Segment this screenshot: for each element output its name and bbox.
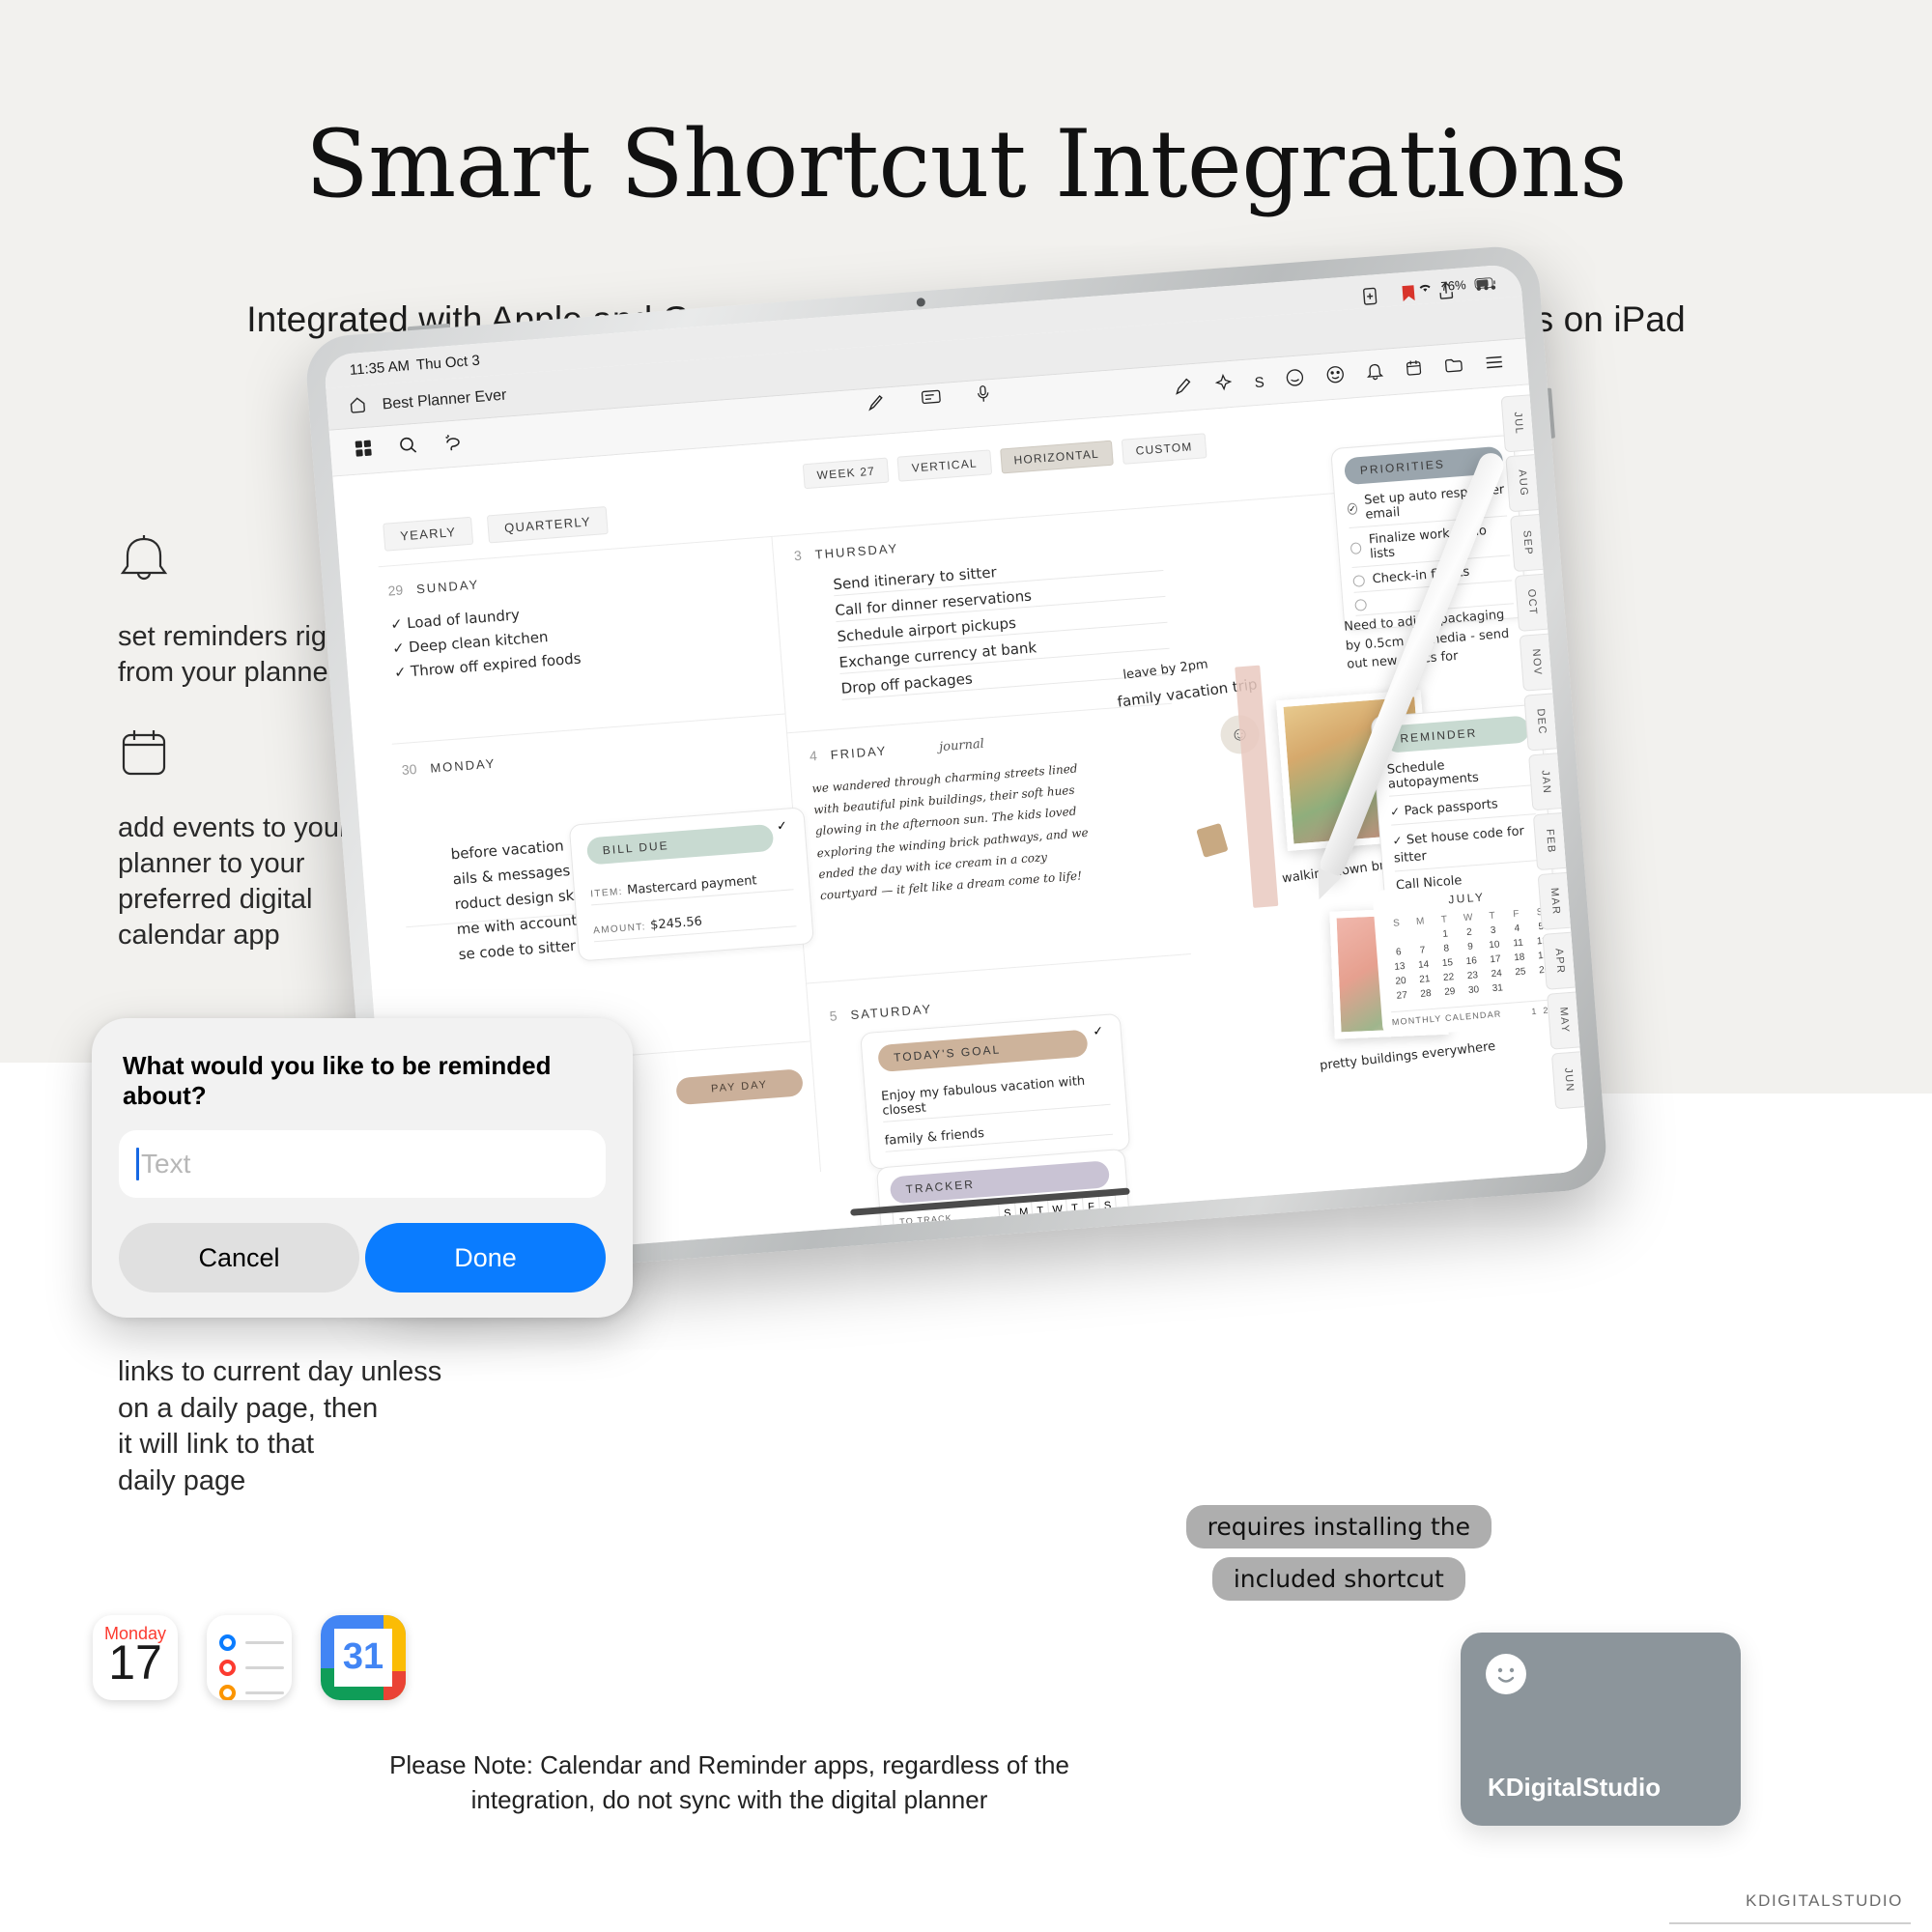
day-name: FRIDAY — [830, 743, 888, 761]
todays-goal-card: TODAY'S GOAL ✓ Enjoy my fabulous vacatio… — [860, 1013, 1130, 1170]
reminder-header: REMINDER — [1383, 715, 1530, 753]
tab-horizontal[interactable]: HORIZONTAL — [1000, 440, 1114, 474]
text-caret — [136, 1148, 139, 1180]
journal-header: journal — [939, 737, 985, 755]
reminder-text: Schedule autopayments — [1386, 752, 1533, 796]
search-icon[interactable] — [397, 435, 418, 460]
calendar-icon[interactable] — [1404, 358, 1424, 383]
bill-due-checkbox[interactable]: ✓ — [771, 814, 794, 838]
pencil-icon[interactable] — [1173, 376, 1194, 401]
month-tab-aug[interactable]: AUG — [1505, 454, 1540, 512]
month-tab-dec[interactable]: DEC — [1523, 693, 1558, 751]
month-tab-nov[interactable]: NOV — [1520, 633, 1554, 691]
folder-icon[interactable] — [1443, 355, 1464, 379]
checkbox-checked[interactable]: ✓ — [393, 664, 407, 681]
priority-text: Finalize work to-do lists — [1368, 522, 1509, 561]
apple-calendar-icon[interactable]: Monday 17 — [93, 1615, 178, 1700]
todo-text: Load of laundry — [407, 606, 521, 632]
bill-item-label: ITEM: — [590, 887, 623, 900]
page-number[interactable]: 1 — [1531, 1007, 1537, 1016]
week-tabs: WEEK 27 VERTICAL HORIZONTAL CUSTOM — [803, 433, 1207, 489]
dialog-title: What would you like to be reminded about… — [123, 1051, 606, 1111]
calendar-day: 17 — [93, 1638, 178, 1687]
todo-text: Deep clean kitchen — [408, 628, 549, 656]
calendar-icon — [118, 726, 349, 785]
calendar-day[interactable] — [1509, 979, 1534, 995]
day-block-thursday: 3 THURSDAY Send itinerary to sitter Call… — [793, 520, 1172, 709]
reminder-line — [245, 1691, 284, 1694]
footer-brand: KDIGITALSTUDIO — [1746, 1891, 1903, 1911]
checkbox-checked[interactable]: ✓ — [390, 616, 404, 634]
day-name: SUNDAY — [416, 577, 480, 596]
goal-header: TODAY'S GOAL — [877, 1029, 1089, 1072]
goal-line-1: Enjoy my fabulous vacation with closest — [881, 1072, 1111, 1122]
calendar-day[interactable]: 28 — [1413, 985, 1438, 1002]
sparkle-icon[interactable] — [1213, 372, 1235, 397]
new-page-icon[interactable] — [1360, 285, 1381, 310]
day-block-sunday: 29 SUNDAY ✓ Load of laundry ✓ Deep clean… — [387, 554, 761, 688]
page-tabs: YEARLY QUARTERLY — [383, 506, 609, 552]
reminder-dot-blue — [219, 1634, 236, 1651]
badge-line-2: included shortcut — [1212, 1557, 1465, 1601]
feature-text: set reminders right from your planner — [118, 619, 350, 691]
reminder-text-input[interactable]: Text — [119, 1130, 606, 1198]
footer-divider — [1669, 1922, 1911, 1924]
month-tab-may[interactable]: MAY — [1547, 991, 1581, 1049]
google-calendar-icon[interactable]: 31 — [321, 1615, 406, 1700]
grid-icon[interactable] — [353, 438, 374, 463]
feature-add-events: add events to your planner to your prefe… — [118, 726, 349, 953]
day-name: MONDAY — [430, 756, 497, 776]
share-icon[interactable] — [1436, 279, 1456, 304]
tracker-day-col: T — [1032, 1201, 1050, 1222]
shapes-icon[interactable]: S — [1254, 374, 1264, 391]
month-tab-oct[interactable]: OCT — [1515, 574, 1549, 632]
pen-icon[interactable] — [866, 392, 887, 417]
reminder-checkbox-checked[interactable]: ✓ — [1390, 805, 1401, 819]
bill-due-header: BILL DUE — [586, 824, 775, 866]
priority-checkbox[interactable] — [1350, 542, 1362, 554]
day-number: 30 — [401, 761, 417, 778]
washi-tape — [1235, 666, 1278, 908]
bookmark-icon[interactable] — [1400, 283, 1417, 308]
status-date: Thu Oct 3 — [415, 352, 480, 373]
goal-line-2: family & friends — [884, 1117, 1113, 1152]
bill-amount-label: AMOUNT: — [593, 922, 646, 936]
done-button[interactable]: Done — [365, 1223, 606, 1293]
studio-card[interactable]: KDigitalStudio — [1461, 1633, 1741, 1826]
tracker-day-col: S — [1098, 1195, 1117, 1216]
studio-name: KDigitalStudio — [1488, 1773, 1661, 1803]
cancel-button[interactable]: Cancel — [119, 1223, 359, 1293]
month-tab-jan[interactable]: JAN — [1528, 753, 1563, 810]
day-block-saturday: 5 SATURDAY — [829, 979, 1215, 1024]
checkbox-checked[interactable]: ✓ — [392, 639, 406, 657]
month-tab-mar[interactable]: MAR — [1538, 872, 1573, 930]
priority-checkbox[interactable] — [1352, 575, 1365, 587]
more-options-icon[interactable]: ••• — [1476, 280, 1499, 299]
links-note: links to current day unless on a daily p… — [118, 1354, 441, 1500]
mic-icon[interactable] — [976, 384, 991, 409]
mini-calendar-footer: MONTHLY CALENDAR — [1392, 1009, 1502, 1027]
calendar-day[interactable]: 31 — [1485, 980, 1510, 997]
bill-amount-value: $245.56 — [650, 915, 703, 933]
badge-line-1: requires installing the — [1186, 1505, 1492, 1548]
day-number: 4 — [809, 748, 817, 764]
lasso-icon[interactable] — [441, 431, 465, 457]
smiley-icon[interactable] — [1325, 363, 1347, 388]
reminder-checkbox-checked[interactable]: ✓ — [1392, 834, 1403, 848]
journal-entry: we wandered through charming streets lin… — [811, 749, 1207, 906]
calendar-day[interactable]: 30 — [1462, 982, 1487, 999]
home-icon[interactable] — [348, 394, 368, 418]
tab-yearly[interactable]: YEARLY — [383, 517, 473, 552]
feature-text: add events to your planner to your prefe… — [118, 810, 349, 953]
day-number: 29 — [387, 582, 404, 598]
feature-set-reminders: set reminders right from your planner — [118, 533, 350, 691]
reminder-line — [245, 1641, 284, 1644]
tab-quarterly[interactable]: QUARTERLY — [487, 506, 609, 543]
tracker-day-col: M — [1015, 1202, 1034, 1223]
day-number: 3 — [793, 548, 802, 564]
input-placeholder: Text — [141, 1149, 190, 1179]
day-block-friday: 4 FRIDAY journal we wandered through cha… — [809, 719, 1206, 906]
gcal-day: 31 — [334, 1629, 392, 1687]
requires-shortcut-badges: requires installing the included shortcu… — [1186, 1505, 1492, 1609]
tracker-day-col: F — [1082, 1197, 1100, 1218]
menu-icon[interactable] — [1484, 354, 1505, 375]
day-name: SATURDAY — [850, 1002, 933, 1022]
reminder-dot-orange — [219, 1685, 236, 1700]
bill-due-card: BILL DUE ✓ ITEM: Mastercard payment AMOU… — [569, 807, 814, 961]
tracker-day-col: S — [999, 1203, 1017, 1224]
bill-item-value: Mastercard payment — [627, 873, 757, 897]
page-title: Smart Shortcut Integrations — [0, 116, 1932, 213]
status-time: 11:35 AM — [349, 357, 410, 379]
reminder-text: Pack passports — [1404, 797, 1498, 818]
goal-checkbox[interactable]: ✓ — [1087, 1020, 1110, 1043]
day-name: THURSDAY — [814, 541, 898, 562]
reminder-text: Set house code for sitter — [1393, 824, 1524, 866]
reminder-dialog: What would you like to be reminded about… — [92, 1018, 633, 1318]
day-number: 5 — [829, 1008, 838, 1024]
tab-vertical[interactable]: VERTICAL — [897, 449, 992, 481]
calendar-day[interactable]: 29 — [1437, 984, 1463, 1001]
app-title: Best Planner Ever — [382, 386, 507, 413]
tracker-day-col: W — [1048, 1199, 1068, 1220]
calendar-day[interactable]: 27 — [1389, 987, 1414, 1004]
sticker-icon[interactable] — [1285, 367, 1306, 392]
tracker-day-col: T — [1065, 1198, 1084, 1219]
reminder-dot-red — [219, 1660, 236, 1676]
annotation-pretty-buildings: pretty buildings everywhere — [1319, 1039, 1496, 1073]
tab-custom[interactable]: CUSTOM — [1122, 433, 1207, 465]
week-label: WEEK 27 — [803, 458, 890, 490]
bell-icon[interactable] — [1365, 360, 1384, 385]
app-icon-row: Monday 17 31 — [93, 1615, 406, 1700]
note-icon[interactable] — [920, 387, 943, 413]
poster-root: Smart Shortcut Integrations Integrated w… — [0, 0, 1932, 1932]
month-tab-feb[interactable]: FEB — [1533, 812, 1568, 870]
month-tab-sep[interactable]: SEP — [1510, 514, 1545, 572]
mini-calendar-table: S M T W T F S 1 — [1384, 904, 1558, 1004]
dialog-actions: Cancel Done — [119, 1223, 606, 1293]
month-tab-jul[interactable]: JUL — [1501, 394, 1536, 452]
priority-checkbox-checked[interactable]: ✓ — [1348, 502, 1358, 515]
please-note-text: Please Note: Calendar and Reminder apps,… — [348, 1748, 1111, 1818]
grid-line — [806, 953, 1191, 984]
ipad-front-camera — [916, 298, 925, 307]
priority-checkbox[interactable] — [1354, 598, 1367, 611]
smiley-icon — [1486, 1654, 1526, 1694]
month-tab-jun[interactable]: JUN — [1551, 1051, 1586, 1109]
apple-reminders-icon[interactable] — [207, 1615, 292, 1700]
month-tab-apr[interactable]: APR — [1542, 932, 1577, 990]
bell-icon — [118, 533, 350, 594]
reminder-line — [245, 1666, 284, 1669]
